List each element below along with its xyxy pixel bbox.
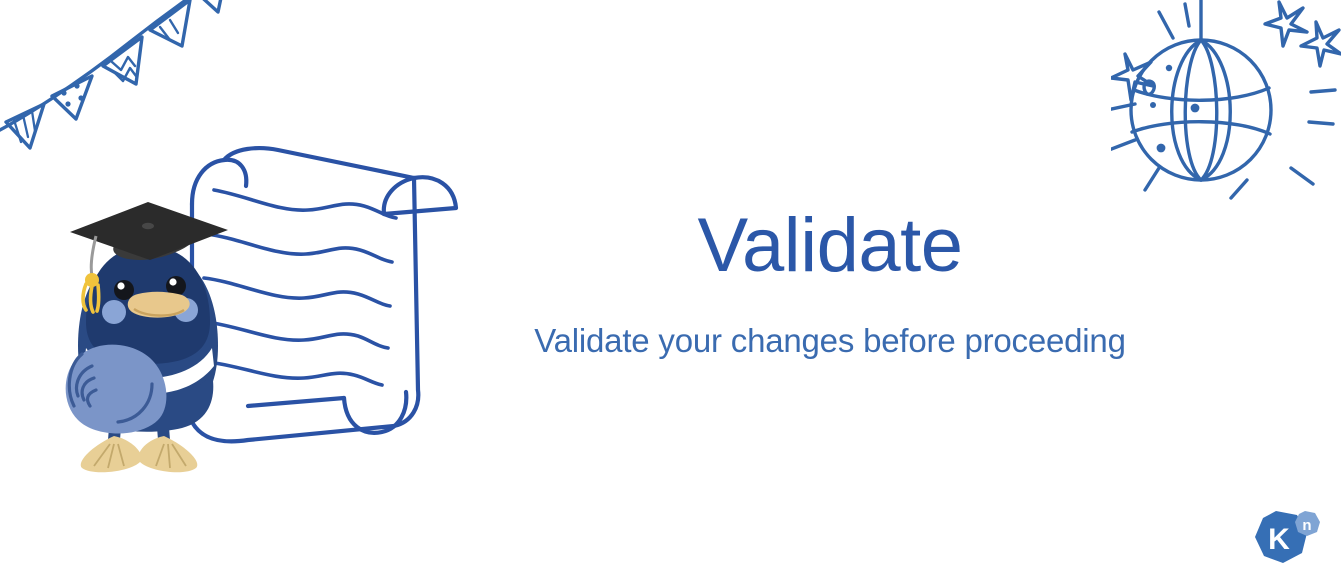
scroll-document-icon <box>178 138 468 458</box>
graduate-duck-mascot-icon <box>52 188 242 484</box>
logo-badge-letter: n <box>1302 517 1311 534</box>
page-subtitle: Validate your changes before proceeding <box>480 321 1180 361</box>
heading-block: Validate Validate your changes before pr… <box>480 205 1180 361</box>
slide-canvas: Validate Validate your changes before pr… <box>0 0 1341 585</box>
page-title: Validate <box>480 205 1180 287</box>
bunting-flags-icon <box>0 0 230 194</box>
disco-ball-icon <box>1111 0 1341 232</box>
kubernetes-n-logo-icon: K n <box>1249 507 1323 573</box>
logo-primary-letter: K <box>1268 523 1290 556</box>
